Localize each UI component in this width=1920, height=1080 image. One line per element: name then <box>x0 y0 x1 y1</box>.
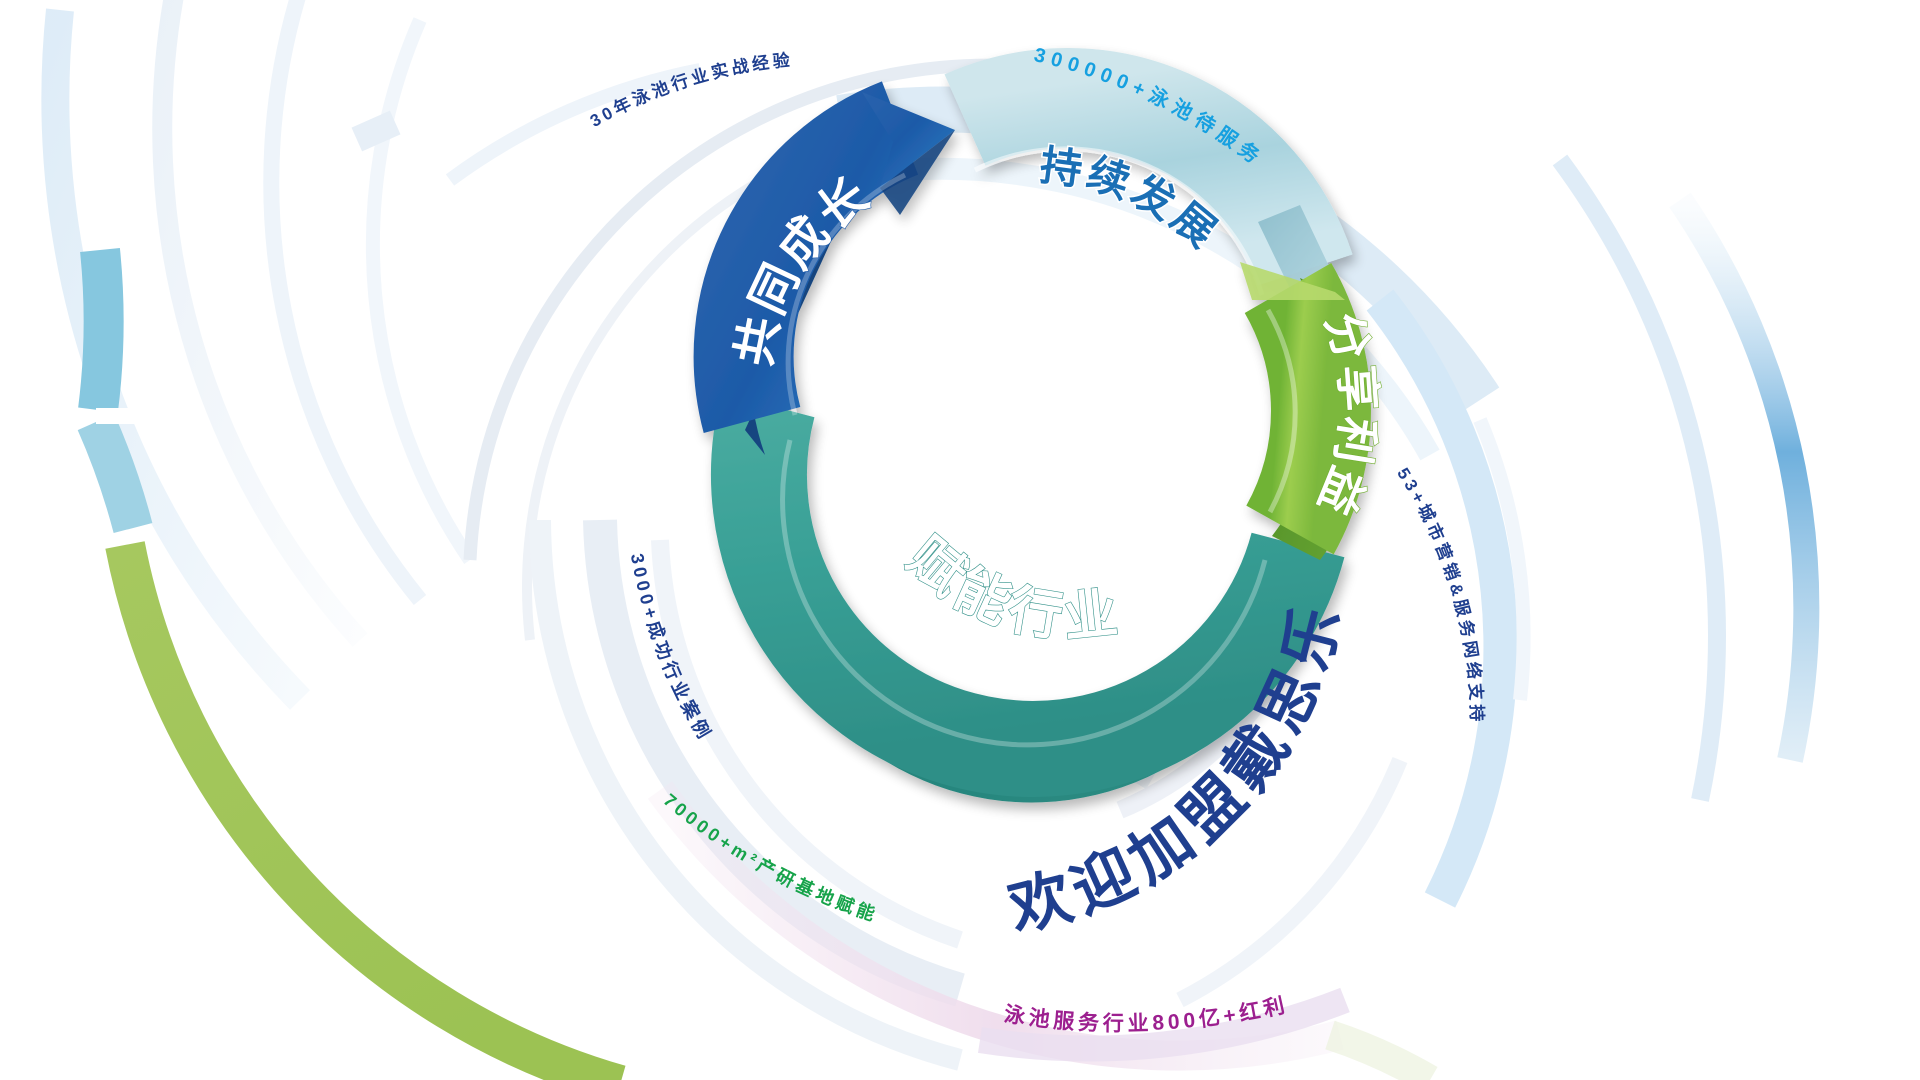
ring-inner-sheen <box>880 190 1180 490</box>
arc-blue-cyan-top <box>98 250 104 410</box>
infographic-canvas: 共同成长 持续发展 分享利益 赋能行业 30年泳池行业实战经验 300000+泳… <box>0 0 1920 1080</box>
arc-blue-right-2 <box>1560 160 1717 800</box>
infographic-svg: 共同成长 持续发展 分享利益 赋能行业 30年泳池行业实战经验 300000+泳… <box>0 0 1920 1080</box>
segment-label-empower: 赋能行业 <box>897 526 1126 648</box>
arc-tick-2 <box>96 408 138 424</box>
arc-greenpale-2 <box>1330 1035 1430 1080</box>
arc-pale-upperleft-3 <box>373 20 470 560</box>
